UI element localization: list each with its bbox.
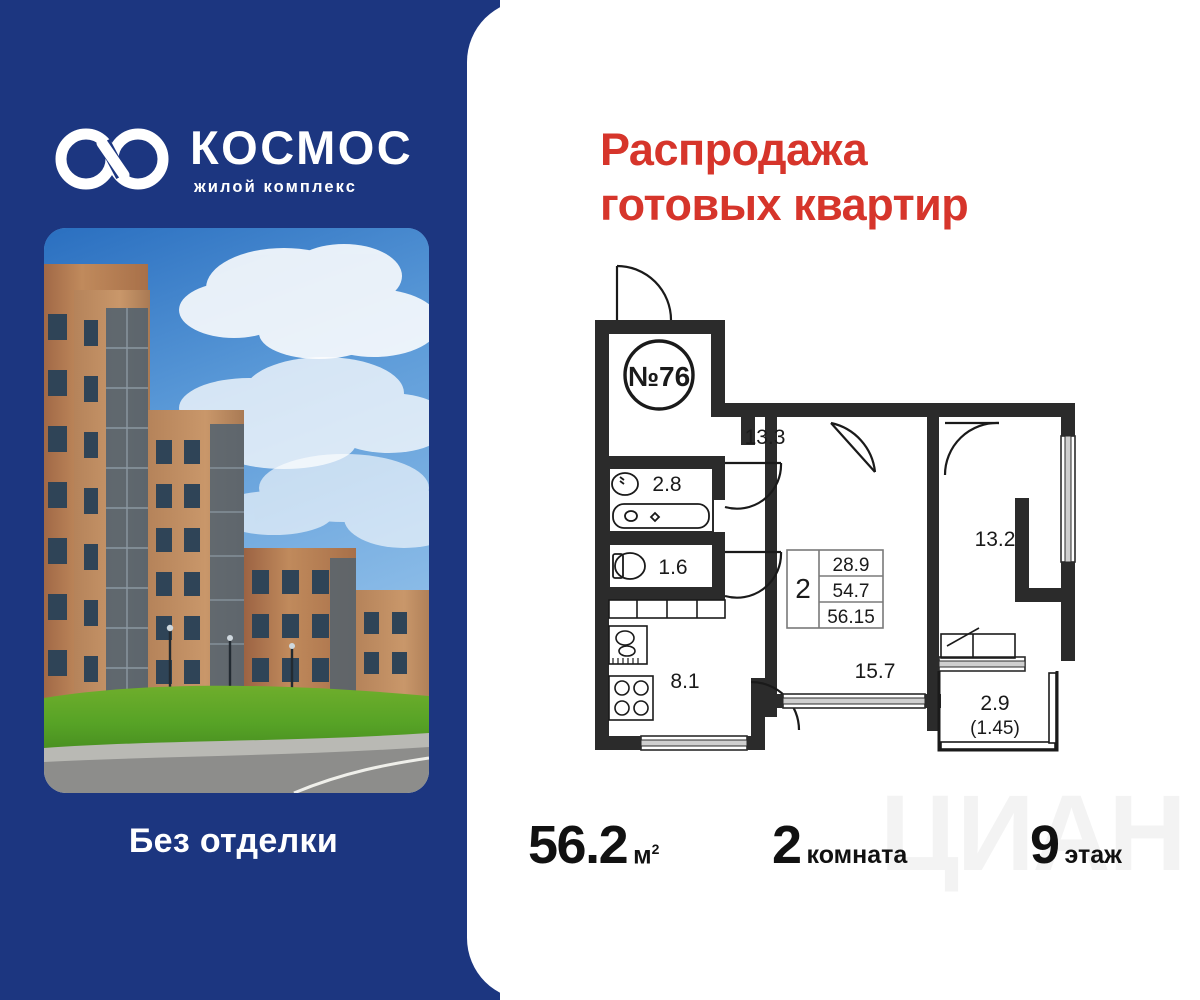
- summary-floor-label: этаж: [1065, 843, 1122, 868]
- summary-area-value: 56.2: [528, 818, 627, 872]
- headline-line-1: Распродажа: [600, 123, 1120, 178]
- apartment-info-box: 2 28.9 54.7 56.15: [787, 550, 883, 628]
- finish-type-caption: Без отделки: [0, 822, 467, 861]
- room-area-living-room: 15.7: [855, 660, 896, 683]
- room-area-kitchen: 8.1: [670, 670, 699, 693]
- summary-area: 56.2 м2: [528, 818, 659, 872]
- brand-logo[interactable]: КОСМОС жилой комплекс: [52, 122, 413, 196]
- summary-floor: 9 этаж: [1030, 818, 1122, 872]
- info-total-area-excl-balcony: 54.7: [833, 581, 870, 602]
- room-area-balcony-coefficient: (1.45): [970, 718, 1020, 739]
- summary-rooms-label: комната: [807, 843, 908, 868]
- apartment-number-badge: №76: [625, 341, 693, 409]
- room-area-hallway: 13.3: [745, 426, 786, 449]
- plan-kitchen-units: [609, 600, 725, 720]
- info-rooms-count: 2: [795, 573, 811, 604]
- page-title: Распродажа готовых квартир: [600, 123, 1120, 233]
- summary-floor-value: 9: [1030, 818, 1059, 872]
- headline-line-2: готовых квартир: [600, 178, 1120, 233]
- room-area-bedroom: 13.2: [975, 528, 1016, 551]
- residential-complex-photo: [44, 228, 429, 793]
- info-living-area: 28.9: [833, 555, 870, 576]
- apartment-summary: 56.2 м2 2 комната 9 этаж: [500, 812, 1190, 892]
- summary-rooms: 2 комната: [772, 818, 907, 872]
- room-area-wc: 1.6: [658, 556, 687, 579]
- summary-area-unit: м2: [633, 842, 659, 868]
- summary-rooms-value: 2: [772, 818, 801, 872]
- plan-detail-lines: [941, 628, 1015, 658]
- room-area-bathroom: 2.8: [652, 473, 681, 496]
- info-total-area-incl-balcony: 56.15: [827, 607, 875, 628]
- brand-tagline: жилой комплекс: [194, 179, 413, 196]
- floor-plan[interactable]: №76 13.3 2.8 1.6 8.1 15.7 13.2 2.9 (1.45…: [575, 258, 1095, 798]
- brand-text: КОСМОС жилой комплекс: [190, 122, 413, 196]
- infinity-logo-icon: [52, 126, 174, 192]
- brand-name: КОСМОС: [190, 124, 413, 171]
- apartment-number-text: №76: [628, 361, 690, 392]
- advertisement-card: КОСМОС жилой комплекс: [0, 0, 1200, 1000]
- room-area-balcony: 2.9: [980, 692, 1009, 715]
